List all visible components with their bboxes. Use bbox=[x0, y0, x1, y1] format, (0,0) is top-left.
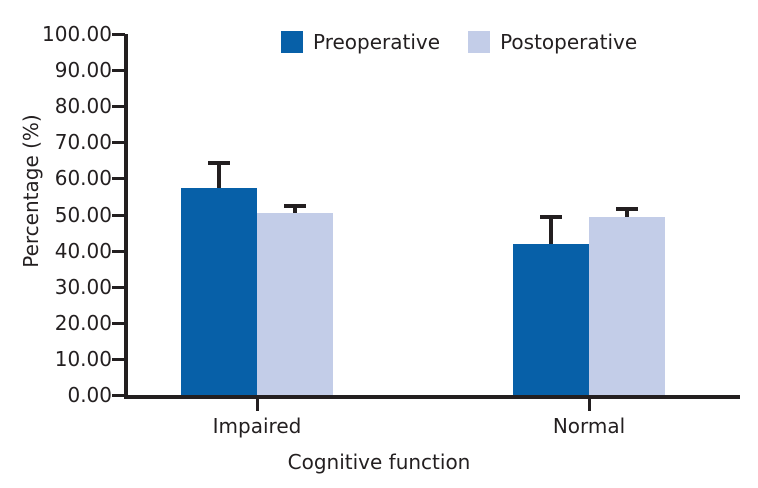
x-axis-title: Cognitive function bbox=[0, 450, 758, 474]
bar-normal-preoperative bbox=[513, 244, 589, 395]
error-bar-cap bbox=[208, 161, 230, 165]
legend-swatch-icon bbox=[281, 31, 303, 53]
y-axis-tick-label: 0.00 bbox=[16, 385, 112, 405]
x-axis-tick-mark bbox=[256, 399, 259, 411]
y-axis-tick-mark bbox=[112, 358, 125, 361]
error-bar-cap bbox=[616, 207, 638, 211]
bar-impaired-postoperative bbox=[257, 213, 333, 395]
y-axis-tick-mark bbox=[112, 105, 125, 108]
x-axis-tick-mark bbox=[588, 399, 591, 411]
y-axis-tick-mark bbox=[112, 322, 125, 325]
y-axis-tick-label: 60.00 bbox=[16, 168, 112, 188]
y-axis-tick-label: 50.00 bbox=[16, 205, 112, 225]
y-axis-tick-labels: 0.0010.0020.0030.0040.0050.0060.0070.008… bbox=[8, 0, 112, 488]
y-axis-tick-label: 70.00 bbox=[16, 132, 112, 152]
y-axis-tick-mark bbox=[112, 394, 125, 397]
legend-swatch-icon bbox=[468, 31, 490, 53]
y-axis-tick-mark bbox=[112, 286, 125, 289]
y-axis-tick-mark bbox=[112, 177, 125, 180]
error-bar-stem bbox=[549, 215, 553, 245]
y-axis-tick-mark bbox=[112, 69, 125, 72]
y-axis-tick-mark bbox=[112, 250, 125, 253]
legend-item-preoperative[interactable]: Preoperative bbox=[281, 30, 440, 54]
plot-area bbox=[128, 34, 740, 395]
legend-item-postoperative[interactable]: Postoperative bbox=[468, 30, 637, 54]
y-axis-tick-mark bbox=[112, 214, 125, 217]
bar-normal-postoperative bbox=[589, 217, 665, 395]
y-axis-tick-label: 40.00 bbox=[16, 241, 112, 261]
y-axis-tick-mark bbox=[112, 141, 125, 144]
x-axis-tick-label: Impaired bbox=[157, 414, 357, 438]
error-bar-stem bbox=[217, 161, 221, 188]
error-bar-cap bbox=[540, 215, 562, 219]
y-axis-tick-mark bbox=[112, 33, 125, 36]
legend-label: Preoperative bbox=[313, 30, 440, 54]
y-axis-tick-label: 20.00 bbox=[16, 313, 112, 333]
x-axis-line bbox=[124, 395, 740, 399]
chart-legend: PreoperativePostoperative bbox=[281, 30, 637, 54]
bar-chart: Percentage (%) 0.0010.0020.0030.0040.005… bbox=[0, 0, 758, 488]
y-axis-tick-label: 90.00 bbox=[16, 60, 112, 80]
error-bar-cap bbox=[284, 204, 306, 208]
y-axis-tick-label: 30.00 bbox=[16, 277, 112, 297]
legend-label: Postoperative bbox=[500, 30, 637, 54]
y-axis-tick-label: 100.00 bbox=[16, 24, 112, 44]
y-axis-tick-label: 80.00 bbox=[16, 96, 112, 116]
x-axis-tick-label: Normal bbox=[489, 414, 689, 438]
bar-impaired-preoperative bbox=[181, 188, 257, 395]
y-axis-tick-label: 10.00 bbox=[16, 349, 112, 369]
